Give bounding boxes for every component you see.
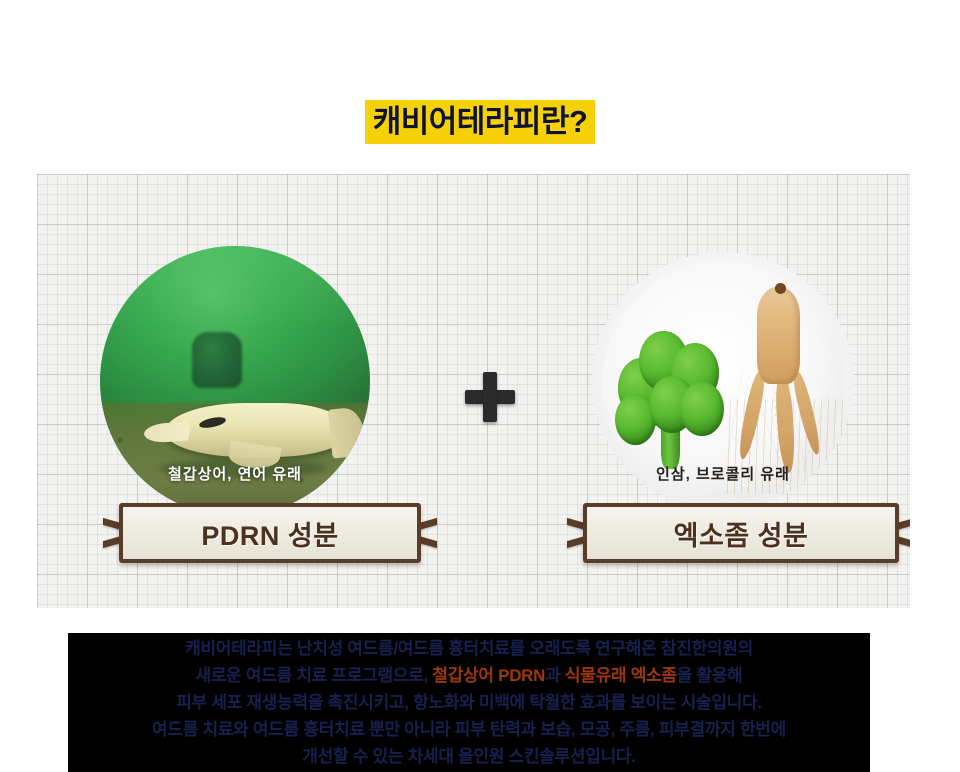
infographic-root: 캐비어테라피란?	[0, 0, 960, 772]
ginseng-body	[757, 287, 800, 384]
left-card-caption: 철갑상어, 연어 유래	[100, 463, 370, 484]
left-banner-label: PDRN 성분	[201, 514, 338, 553]
description-line: 피부 세포 재생능력을 촉진시키고, 항노화와 미백에 탁월한 효과를 보이는 …	[68, 689, 870, 716]
right-ribbon-banner: 엑소좀 성분	[567, 503, 910, 563]
description-block: 캐비어테라피는 난치성 여드름/여드름 흉터치료를 오래도록 연구해온 참진한의…	[68, 633, 870, 772]
sturgeon-fish	[149, 403, 360, 457]
right-banner-label: 엑소좀 성분	[674, 514, 809, 553]
description-line: 개선할 수 있는 차세대 올인원 스킨솔루션입니다.	[68, 743, 870, 770]
ginseng-crown	[775, 283, 786, 294]
grid-paper-panel: 철갑상어, 연어 유래 인삼, 브로콜리 유래 PDRN 성분 엑소좀 성분	[37, 174, 910, 608]
description-text: 을 활용해	[677, 666, 743, 685]
description-text: 캐비어테라피는 난치성 여드름/여드름 흉터치료를 오래도록 연구해온 참진한의…	[185, 639, 753, 658]
description-text: 개선할 수 있는 차세대 올인원 스킨솔루션입니다.	[302, 747, 635, 766]
description-highlight: 철갑상어 PDRN	[432, 666, 545, 685]
description-text: 새로운 여드름 치료 프로그램으로,	[195, 666, 432, 685]
ribbon-plate: PDRN 성분	[119, 503, 421, 563]
description-text: 과	[545, 666, 565, 685]
plus-vertical-bar	[483, 372, 497, 422]
page-title-text: 캐비어테라피란?	[365, 100, 596, 144]
plus-icon	[465, 372, 515, 422]
left-ribbon-banner: PDRN 성분	[103, 503, 437, 563]
page-title: 캐비어테라피란?	[0, 100, 960, 144]
description-text: 여드름 치료와 여드름 흉터치료 뿐만 아니라 피부 탄력과 보습, 모공, 주…	[152, 720, 786, 739]
description-line: 새로운 여드름 치료 프로그램으로, 철갑상어 PDRN과 식물유래 엑소좀을 …	[68, 662, 870, 689]
description-line: 여드름 치료와 여드름 흉터치료 뿐만 아니라 피부 탄력과 보습, 모공, 주…	[68, 716, 870, 743]
fish-snout	[144, 422, 192, 445]
description-text: 피부 세포 재생능력을 촉진시키고, 항노화와 미백에 탁월한 효과를 보이는 …	[176, 693, 762, 712]
right-card-caption: 인삼, 브로콜리 유래	[592, 463, 854, 484]
description-line: 캐비어테라피는 난치성 여드름/여드름 흉터치료를 오래도록 연구해온 참진한의…	[68, 635, 870, 662]
background-object	[192, 332, 242, 388]
ribbon-plate: 엑소좀 성분	[583, 503, 899, 563]
description-highlight: 식물유래 엑소좀	[565, 666, 677, 685]
